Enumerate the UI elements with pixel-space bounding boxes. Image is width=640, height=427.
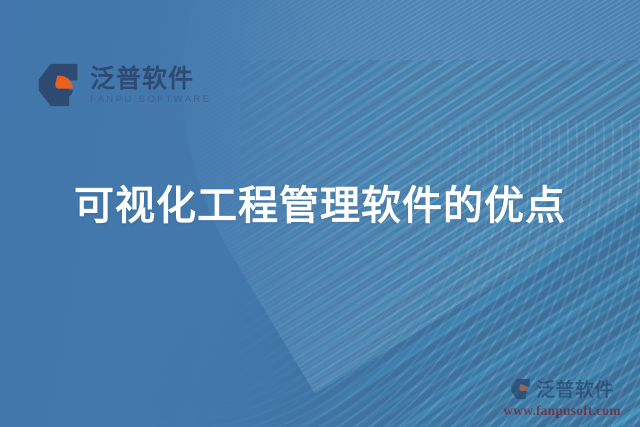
brand-logo-text: 泛普软件 FANPU SOFTWARE xyxy=(90,66,211,105)
brand-name-cn: 泛普软件 xyxy=(90,66,211,91)
brand-name-en: FANPU SOFTWARE xyxy=(90,95,211,105)
promo-banner: 泛普软件 FANPU SOFTWARE 可视化工程管理软件的优点 泛普软件 ww… xyxy=(0,0,640,427)
fanpu-hexagon-swoosh-logo xyxy=(36,62,82,108)
brand-logo: 泛普软件 FANPU SOFTWARE xyxy=(36,62,211,108)
banner-title: 可视化工程管理软件的优点 xyxy=(0,181,640,231)
